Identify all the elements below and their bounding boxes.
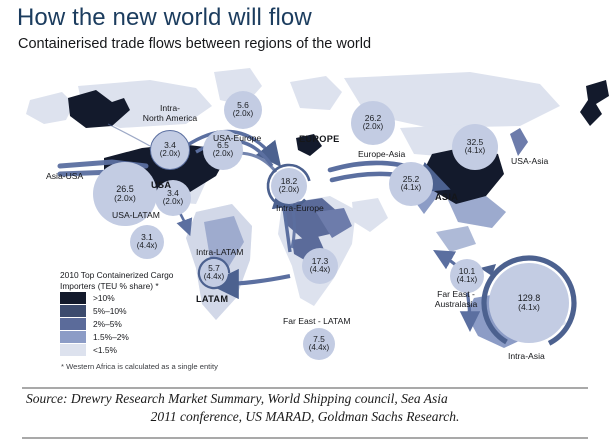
- infographic-page: How the new world will flow Containerise…: [0, 0, 609, 444]
- legend-item-2to5: 2%–5%: [60, 318, 188, 330]
- bubble-multiple: (4.4x): [204, 273, 224, 282]
- bubble-multiple: (4.1x): [457, 276, 477, 285]
- bubble-usa-europe-56[interactable]: 5.6 (2.0x): [224, 91, 262, 129]
- bubble-europe-asia-252[interactable]: 25.2 (4.1x): [389, 162, 433, 206]
- legend-title: 2010 Top Containerized Cargo Importers (…: [60, 270, 188, 291]
- flow-label-intra-north-america: Intra- North America: [120, 104, 220, 123]
- legend-item-gt10: >10%: [60, 292, 188, 304]
- flow-label-usa-latam: USA-LATAM: [112, 211, 160, 221]
- legend-item-1p5to2: 1.5%–2%: [60, 331, 188, 343]
- source-line1: Source: Drewry Research Market Summary, …: [22, 390, 588, 408]
- flow-label-usa-europe: USA-Europe: [213, 134, 261, 144]
- bubble-multiple: (4.1x): [401, 184, 421, 193]
- bubble-intra-latam[interactable]: 5.7 (4.4x): [200, 259, 228, 287]
- bubble-multiple: (2.0x): [163, 198, 183, 207]
- bubble-far-east-latam[interactable]: 7.5 (4.4x): [303, 328, 335, 360]
- flow-label-line2: Australasia: [414, 300, 498, 310]
- flow-label-far-east-australasia: Far East - Australasia: [414, 290, 498, 309]
- legend-title-line1: 2010 Top Containerized Cargo: [60, 270, 173, 280]
- bubble-multiple: (4.1x): [518, 303, 540, 312]
- legend-swatch: [60, 292, 86, 304]
- bubble-intra-asia[interactable]: 129.8 (4.1x): [489, 263, 569, 343]
- region-label-usa: USA: [151, 180, 171, 190]
- page-title: How the new world will flow: [17, 4, 312, 32]
- bubble-multiple: (4.4x): [310, 266, 330, 275]
- page-subtitle: Containerised trade flows between region…: [18, 36, 371, 52]
- bubble-intra-north-america[interactable]: 3.4 (2.0x): [150, 130, 190, 170]
- flow-label-usa-asia: USA-Asia: [511, 157, 548, 167]
- legend-swatch: [60, 305, 86, 317]
- bubble-usa-latam-31[interactable]: 3.1 (4.4x): [130, 225, 164, 259]
- bubble-multiple: (2.0x): [233, 110, 253, 119]
- region-label-latam: LATAM: [196, 294, 228, 304]
- legend-label: <1.5%: [93, 345, 117, 355]
- legend-swatch: [60, 318, 86, 330]
- bubble-europe-africa[interactable]: 17.3 (4.4x): [302, 248, 338, 284]
- legend-footnote: * Western Africa is calculated as a sing…: [61, 362, 218, 371]
- legend: 2010 Top Containerized Cargo Importers (…: [60, 270, 188, 356]
- legend-item-lt1p5: <1.5%: [60, 344, 188, 356]
- bubble-europe-asia-262[interactable]: 26.2 (2.0x): [351, 101, 395, 145]
- legend-title-line2: Importers (TEU % share) *: [60, 281, 159, 291]
- legend-label: >10%: [93, 293, 115, 303]
- bubble-usa-asia[interactable]: 32.5 (4.1x): [452, 124, 498, 170]
- source-rule-bottom: [22, 437, 588, 439]
- bubble-multiple: (4.4x): [309, 344, 329, 353]
- flow-label-far-east-latam: Far East - LATAM: [283, 317, 351, 327]
- bubble-multiple: (2.0x): [114, 194, 136, 203]
- bubble-far-east-australasia[interactable]: 10.1 (4.1x): [450, 259, 484, 293]
- legend-label: 1.5%–2%: [93, 332, 129, 342]
- legend-swatch: [60, 344, 86, 356]
- bubble-multiple: (4.1x): [465, 147, 485, 156]
- bubble-multiple: (4.4x): [137, 242, 157, 251]
- bubble-multiple: (2.0x): [363, 123, 383, 132]
- legend-label: 2%–5%: [93, 319, 122, 329]
- legend-swatch: [60, 331, 86, 343]
- legend-item-5to10: 5%–10%: [60, 305, 188, 317]
- flow-label-line2: North America: [120, 114, 220, 124]
- flow-label-intra-europe: Intra-Europe: [276, 204, 324, 214]
- flow-label-intra-asia: Intra-Asia: [508, 352, 545, 362]
- source-line2: 2011 conference, US MARAD, Goldman Sachs…: [22, 408, 588, 426]
- source-note: Source: Drewry Research Market Summary, …: [22, 390, 588, 426]
- flow-label-europe-asia: Europe-Asia: [358, 150, 405, 160]
- region-label-europe: EUROPE: [299, 134, 340, 144]
- bubble-multiple: (2.0x): [160, 150, 180, 159]
- bubble-intra-europe[interactable]: 18.2 (2.0x): [271, 168, 307, 204]
- flow-label-intra-latam: Intra-LATAM: [196, 248, 243, 258]
- legend-label: 5%–10%: [93, 306, 127, 316]
- bubble-multiple: (2.0x): [279, 186, 299, 195]
- region-label-asia: ASIA: [435, 192, 458, 202]
- source-rule-top: [22, 387, 588, 389]
- flow-label-asia-usa: Asia-USA: [46, 172, 83, 182]
- bubble-multiple: (2.0x): [213, 150, 233, 159]
